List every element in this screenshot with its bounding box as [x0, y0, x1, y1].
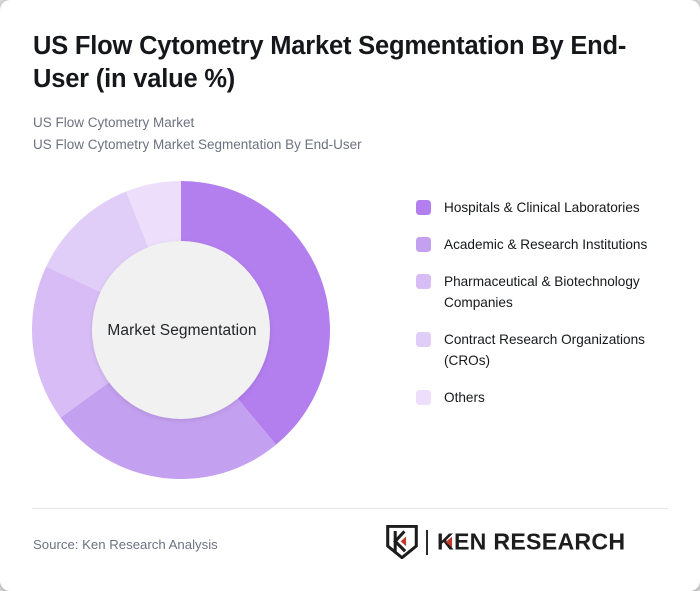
source-note: Source: Ken Research Analysis [33, 537, 218, 552]
legend-item[interactable]: Hospitals & Clinical Laboratories [416, 198, 676, 219]
legend-swatch-icon [416, 390, 431, 405]
legend-swatch-icon [416, 274, 431, 289]
footer-divider [32, 508, 668, 509]
legend-swatch-icon [416, 200, 431, 215]
card-content: US Flow Cytometry Market Segmentation By… [0, 0, 700, 591]
ken-research-wordmark: KEN RESEARCH [437, 528, 669, 556]
legend-item[interactable]: Academic & Research Institutions [416, 235, 676, 256]
legend-swatch-icon [416, 237, 431, 252]
breadcrumb-line-2: US Flow Cytometry Market Segmentation By… [33, 134, 633, 156]
legend-item[interactable]: Contract Research Organizations (CROs) [416, 330, 676, 371]
donut-chart: Market Segmentation [28, 178, 336, 483]
donut-chart-svg [28, 178, 336, 483]
legend-label: Hospitals & Clinical Laboratories [444, 198, 640, 219]
breadcrumb: US Flow Cytometry Market US Flow Cytomet… [33, 112, 633, 155]
legend-item[interactable]: Others [416, 388, 676, 409]
legend-label: Pharmaceutical & Biotechnology Companies [444, 272, 650, 313]
legend-label: Others [444, 388, 485, 409]
legend-label: Academic & Research Institutions [444, 235, 647, 256]
legend-swatch-icon [416, 332, 431, 347]
legend-label: Contract Research Organizations (CROs) [444, 330, 650, 371]
breadcrumb-line-1: US Flow Cytometry Market [33, 112, 633, 134]
ken-research-logo: KEN RESEARCH [385, 524, 669, 560]
donut-center-hole [92, 241, 270, 419]
svg-text:KEN RESEARCH: KEN RESEARCH [437, 529, 625, 555]
ken-research-shield-icon [385, 525, 419, 559]
chart-legend: Hospitals & Clinical LaboratoriesAcademi… [416, 198, 676, 425]
chart-card: US Flow Cytometry Market Segmentation By… [0, 0, 700, 591]
legend-item[interactable]: Pharmaceutical & Biotechnology Companies [416, 272, 676, 313]
logo-separator [426, 530, 428, 555]
page-title: US Flow Cytometry Market Segmentation By… [33, 30, 638, 96]
